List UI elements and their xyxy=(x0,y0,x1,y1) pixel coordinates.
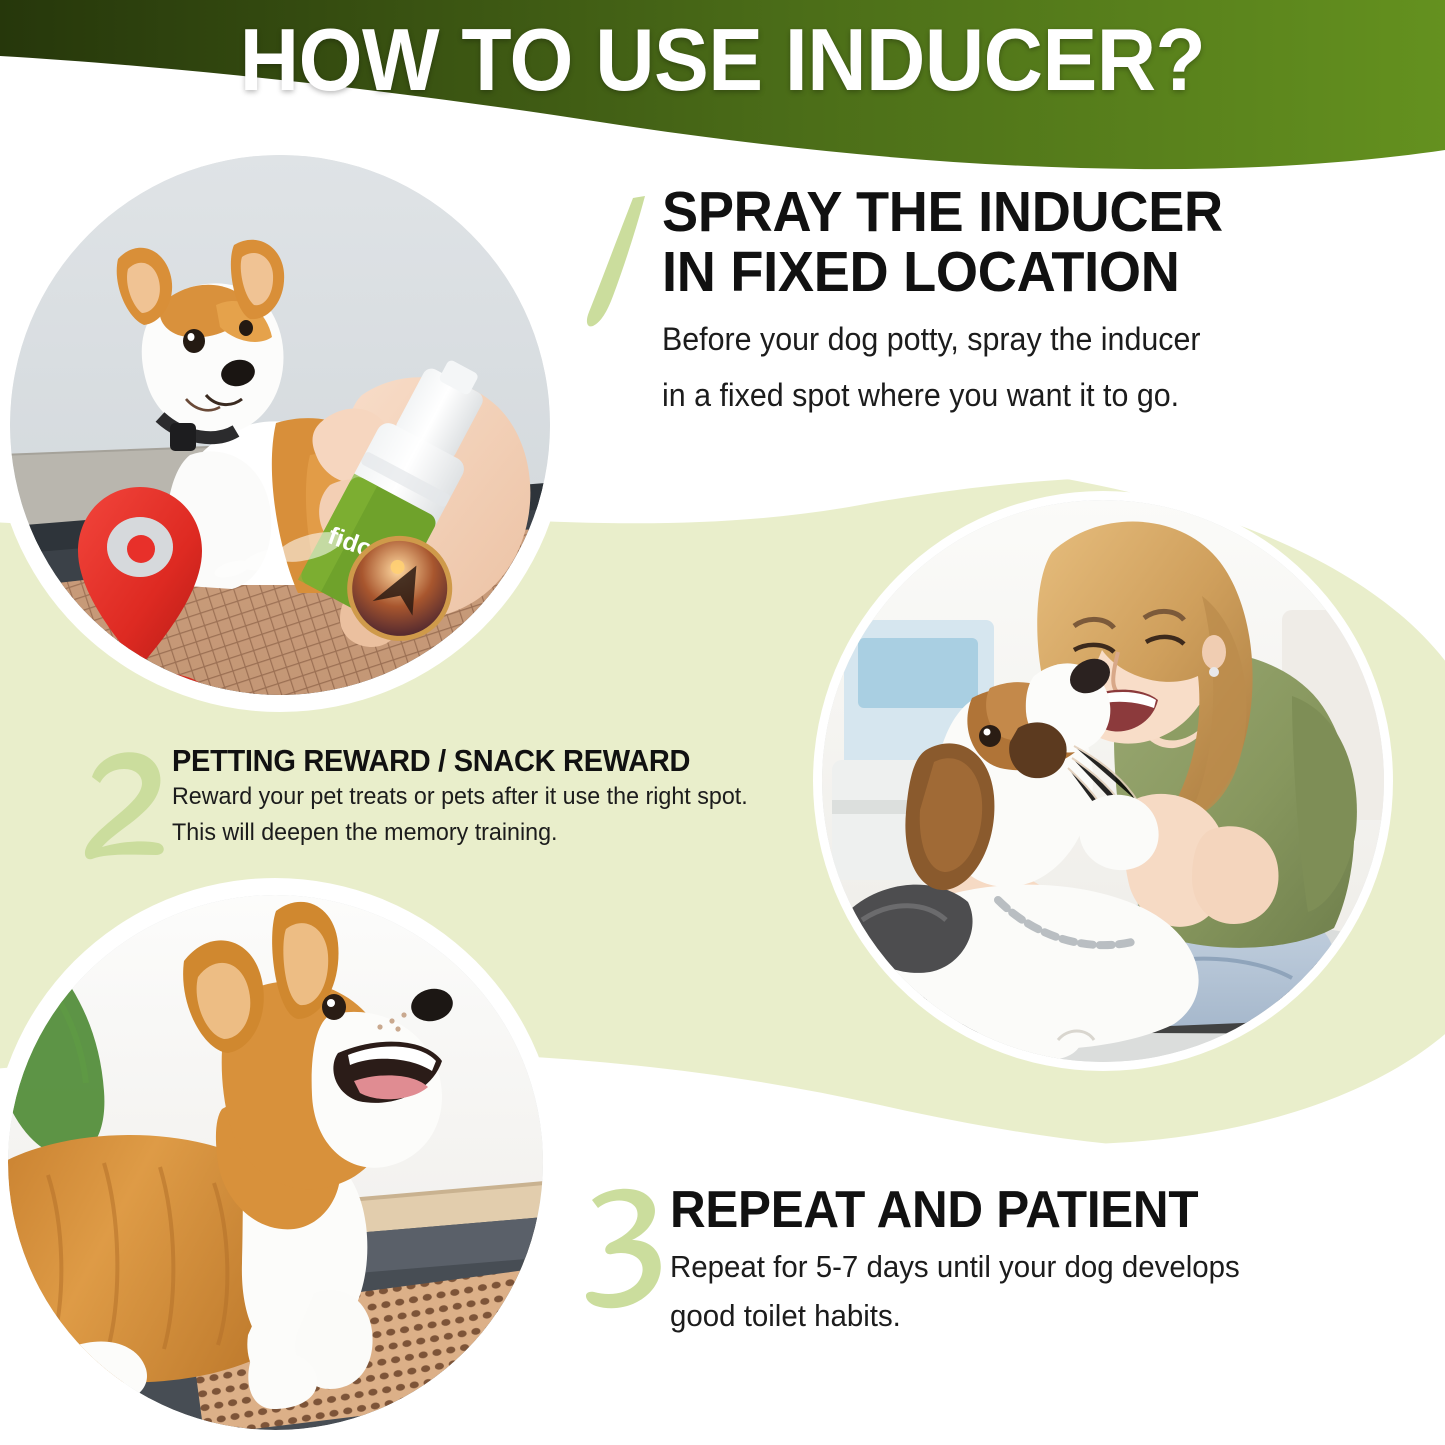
photo-step-2-image xyxy=(822,500,1384,1062)
step-2-title-line-1: PETTING REWARD / SNACK REWARD xyxy=(172,745,780,777)
step-3-body-line-2: good toilet habits. xyxy=(670,1297,1373,1336)
step-1-title-line-2: IN FIXED LOCATION xyxy=(662,242,1327,302)
photo-step-3-image xyxy=(8,895,543,1430)
photo-step-3: Corgi standing on a tan grated dog potty… xyxy=(8,895,543,1430)
step-1-block: SPRAY THE INDUCER IN FIXED LOCATION Befo… xyxy=(662,182,1362,415)
step-1-body-line-2: in a fixed spot where you want it to go. xyxy=(662,375,1327,415)
header-banner: HOW TO USE INDUCER? xyxy=(0,0,1445,175)
step-2-body-line-1: Reward your pet treats or pets after it … xyxy=(172,782,780,813)
step-3-block: REPEAT AND PATIENT Repeat for 5-7 days u… xyxy=(670,1183,1410,1336)
photo-step-1: fidoflix xyxy=(10,155,550,695)
step-3-title-line-1: REPEAT AND PATIENT xyxy=(670,1183,1373,1238)
photo-step-2: Smiling blonde woman in an olive t-shirt… xyxy=(822,500,1384,1062)
step-3-body-line-1: Repeat for 5-7 days until your dog devel… xyxy=(670,1248,1373,1287)
step-2-block: PETTING REWARD / SNACK REWARD Reward you… xyxy=(172,745,812,849)
photo-step-1-image: fidoflix xyxy=(10,155,550,695)
step-1-body-line-1: Before your dog potty, spray the inducer xyxy=(662,319,1327,359)
page-title: HOW TO USE INDUCER? xyxy=(0,8,1445,111)
step-1-title-line-1: SPRAY THE INDUCER xyxy=(662,182,1327,242)
step-2-body-line-2: This will deepen the memory training. xyxy=(172,818,780,849)
infographic-poster: HOW TO USE INDUCER? xyxy=(0,0,1445,1445)
